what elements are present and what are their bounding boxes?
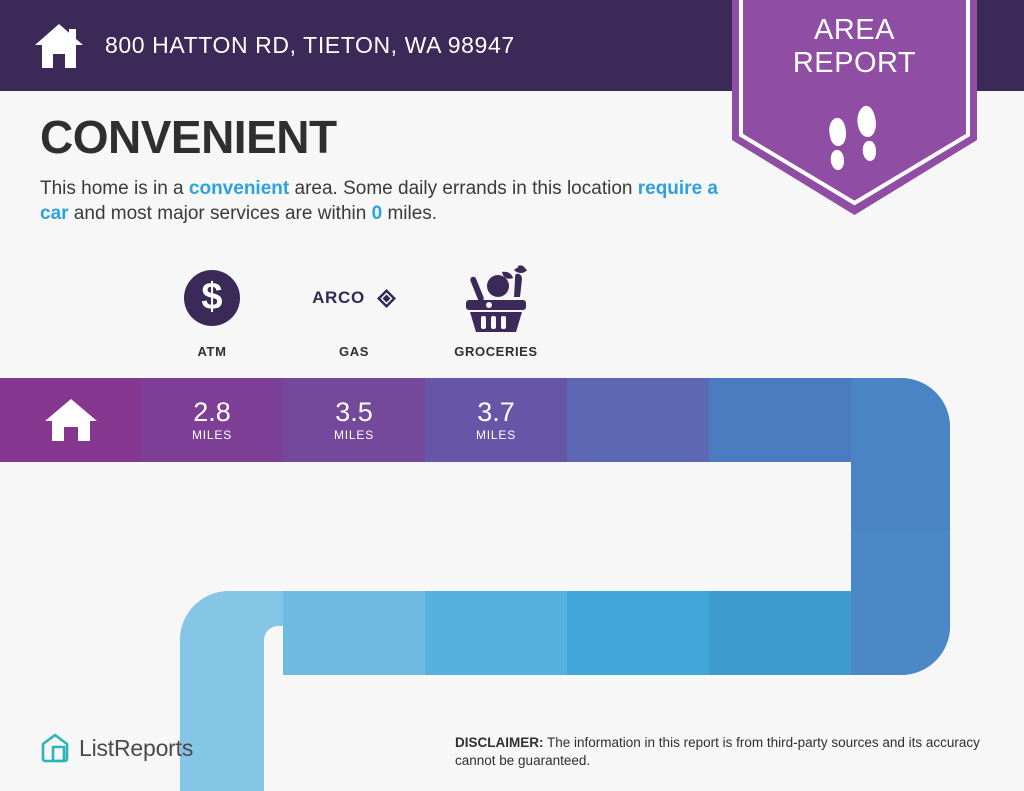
poi-gas: ARCO GAS: [283, 262, 425, 359]
band-bot-4: [425, 591, 567, 675]
listreports-house-icon: [40, 733, 70, 763]
desc-highlight-miles: 0: [372, 203, 383, 224]
band-bot-3: [283, 591, 425, 675]
distance-unit-gas: MILES: [334, 428, 374, 442]
distance-value-atm: 2.8: [193, 398, 231, 427]
disclaimer-label: DISCLAIMER:: [455, 735, 544, 750]
distance-value-groceries: 3.7: [477, 398, 515, 427]
dollar-circle-icon: $: [184, 270, 240, 326]
arco-diamond-icon: [377, 289, 396, 308]
poi-atm-label: ATM: [141, 344, 283, 359]
property-address: 800 HATTON RD, TIETON, WA 98947: [105, 32, 515, 59]
bar-home-icon: [0, 378, 141, 462]
poi-groceries: GROCERIES: [425, 262, 567, 359]
arco-wordmark: ARCO: [312, 288, 365, 308]
band-right-lower: [851, 531, 950, 675]
disclaimer: DISCLAIMER: The information in this repo…: [455, 734, 1000, 770]
poi-groceries-art: [425, 262, 567, 334]
poi-groceries-label: GROCERIES: [425, 344, 567, 359]
badge-title: AREA REPORT: [732, 14, 977, 80]
distance-unit-atm: MILES: [192, 428, 232, 442]
distance-cell-gas: 3.5 MILES: [283, 378, 425, 462]
badge-line-1: AREA: [814, 14, 895, 46]
arco-logo-icon: ARCO: [312, 288, 396, 308]
band-bot-6: [709, 591, 851, 675]
distance-cell-groceries: 3.7 MILES: [425, 378, 567, 462]
distance-bar-labels: 2.8 MILES 3.5 MILES 3.7 MILES: [0, 378, 1024, 462]
poi-gas-art: ARCO: [283, 262, 425, 334]
grocery-basket-icon: [458, 264, 534, 332]
poi-atm-art: $: [141, 262, 283, 334]
distance-cell-atm: 2.8 MILES: [141, 378, 283, 462]
poi-gas-label: GAS: [283, 344, 425, 359]
listreports-logo[interactable]: ListReports: [40, 733, 193, 763]
poi-icon-row: $ ATM ARCO GAS: [141, 262, 567, 359]
area-report-badge: AREA REPORT: [732, 0, 977, 215]
listreports-logo-text: ListReports: [79, 735, 193, 762]
band-bot-5: [567, 591, 709, 675]
desc-part-3: and most major services are within: [69, 203, 372, 224]
desc-highlight-convenient: convenient: [189, 178, 289, 199]
hero-section: CONVENIENT This home is in a convenient …: [40, 112, 730, 226]
desc-part-2: area. Some daily errands in this locatio…: [289, 178, 638, 199]
home-icon: [33, 22, 85, 70]
desc-part-4: miles.: [382, 203, 437, 224]
hero-description: This home is in a convenient area. Some …: [40, 176, 730, 226]
page-title: CONVENIENT: [40, 112, 730, 162]
inner-white-3: [0, 462, 851, 591]
distance-value-gas: 3.5: [335, 398, 373, 427]
distance-unit-groceries: MILES: [476, 428, 516, 442]
poi-atm: $ ATM: [141, 262, 283, 359]
desc-part-1: This home is in a: [40, 178, 189, 199]
badge-line-2: REPORT: [732, 47, 977, 80]
